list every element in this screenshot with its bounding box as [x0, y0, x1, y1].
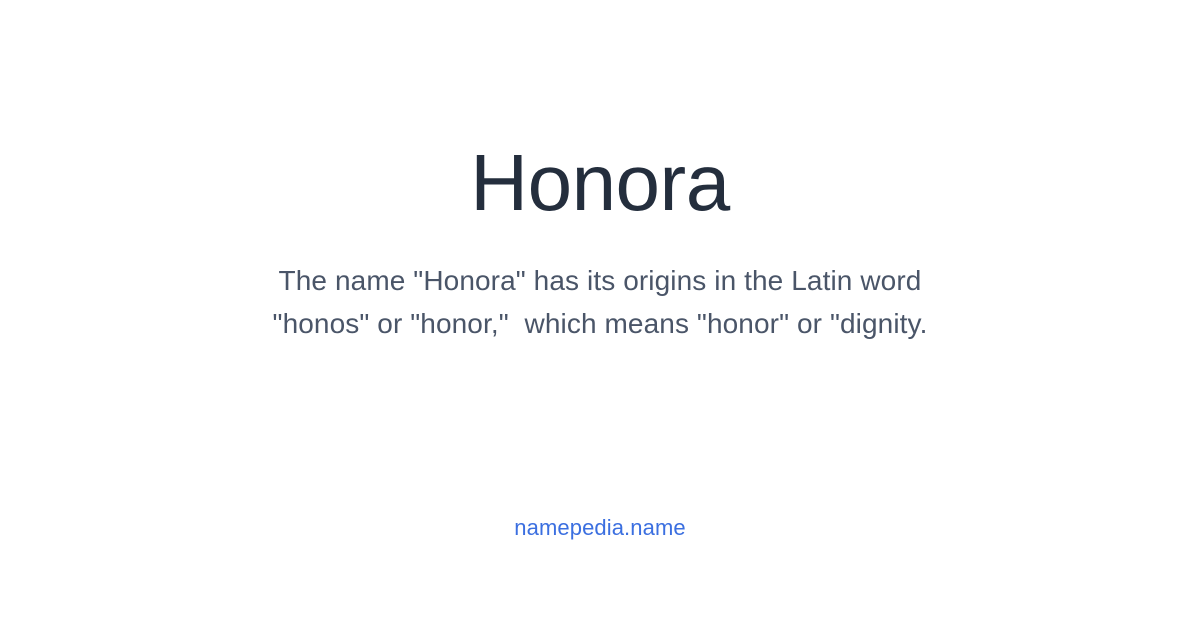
name-meaning-text: The name "Honora" has its origins in the… [273, 259, 928, 345]
site-link[interactable]: namepedia.name [514, 515, 685, 541]
hero-content: Honora The name "Honora" has its origins… [0, 0, 1200, 470]
footer: namepedia.name [0, 515, 1200, 541]
page-title: Honora [470, 143, 729, 223]
name-meaning-card: Honora The name "Honora" has its origins… [0, 0, 1200, 630]
